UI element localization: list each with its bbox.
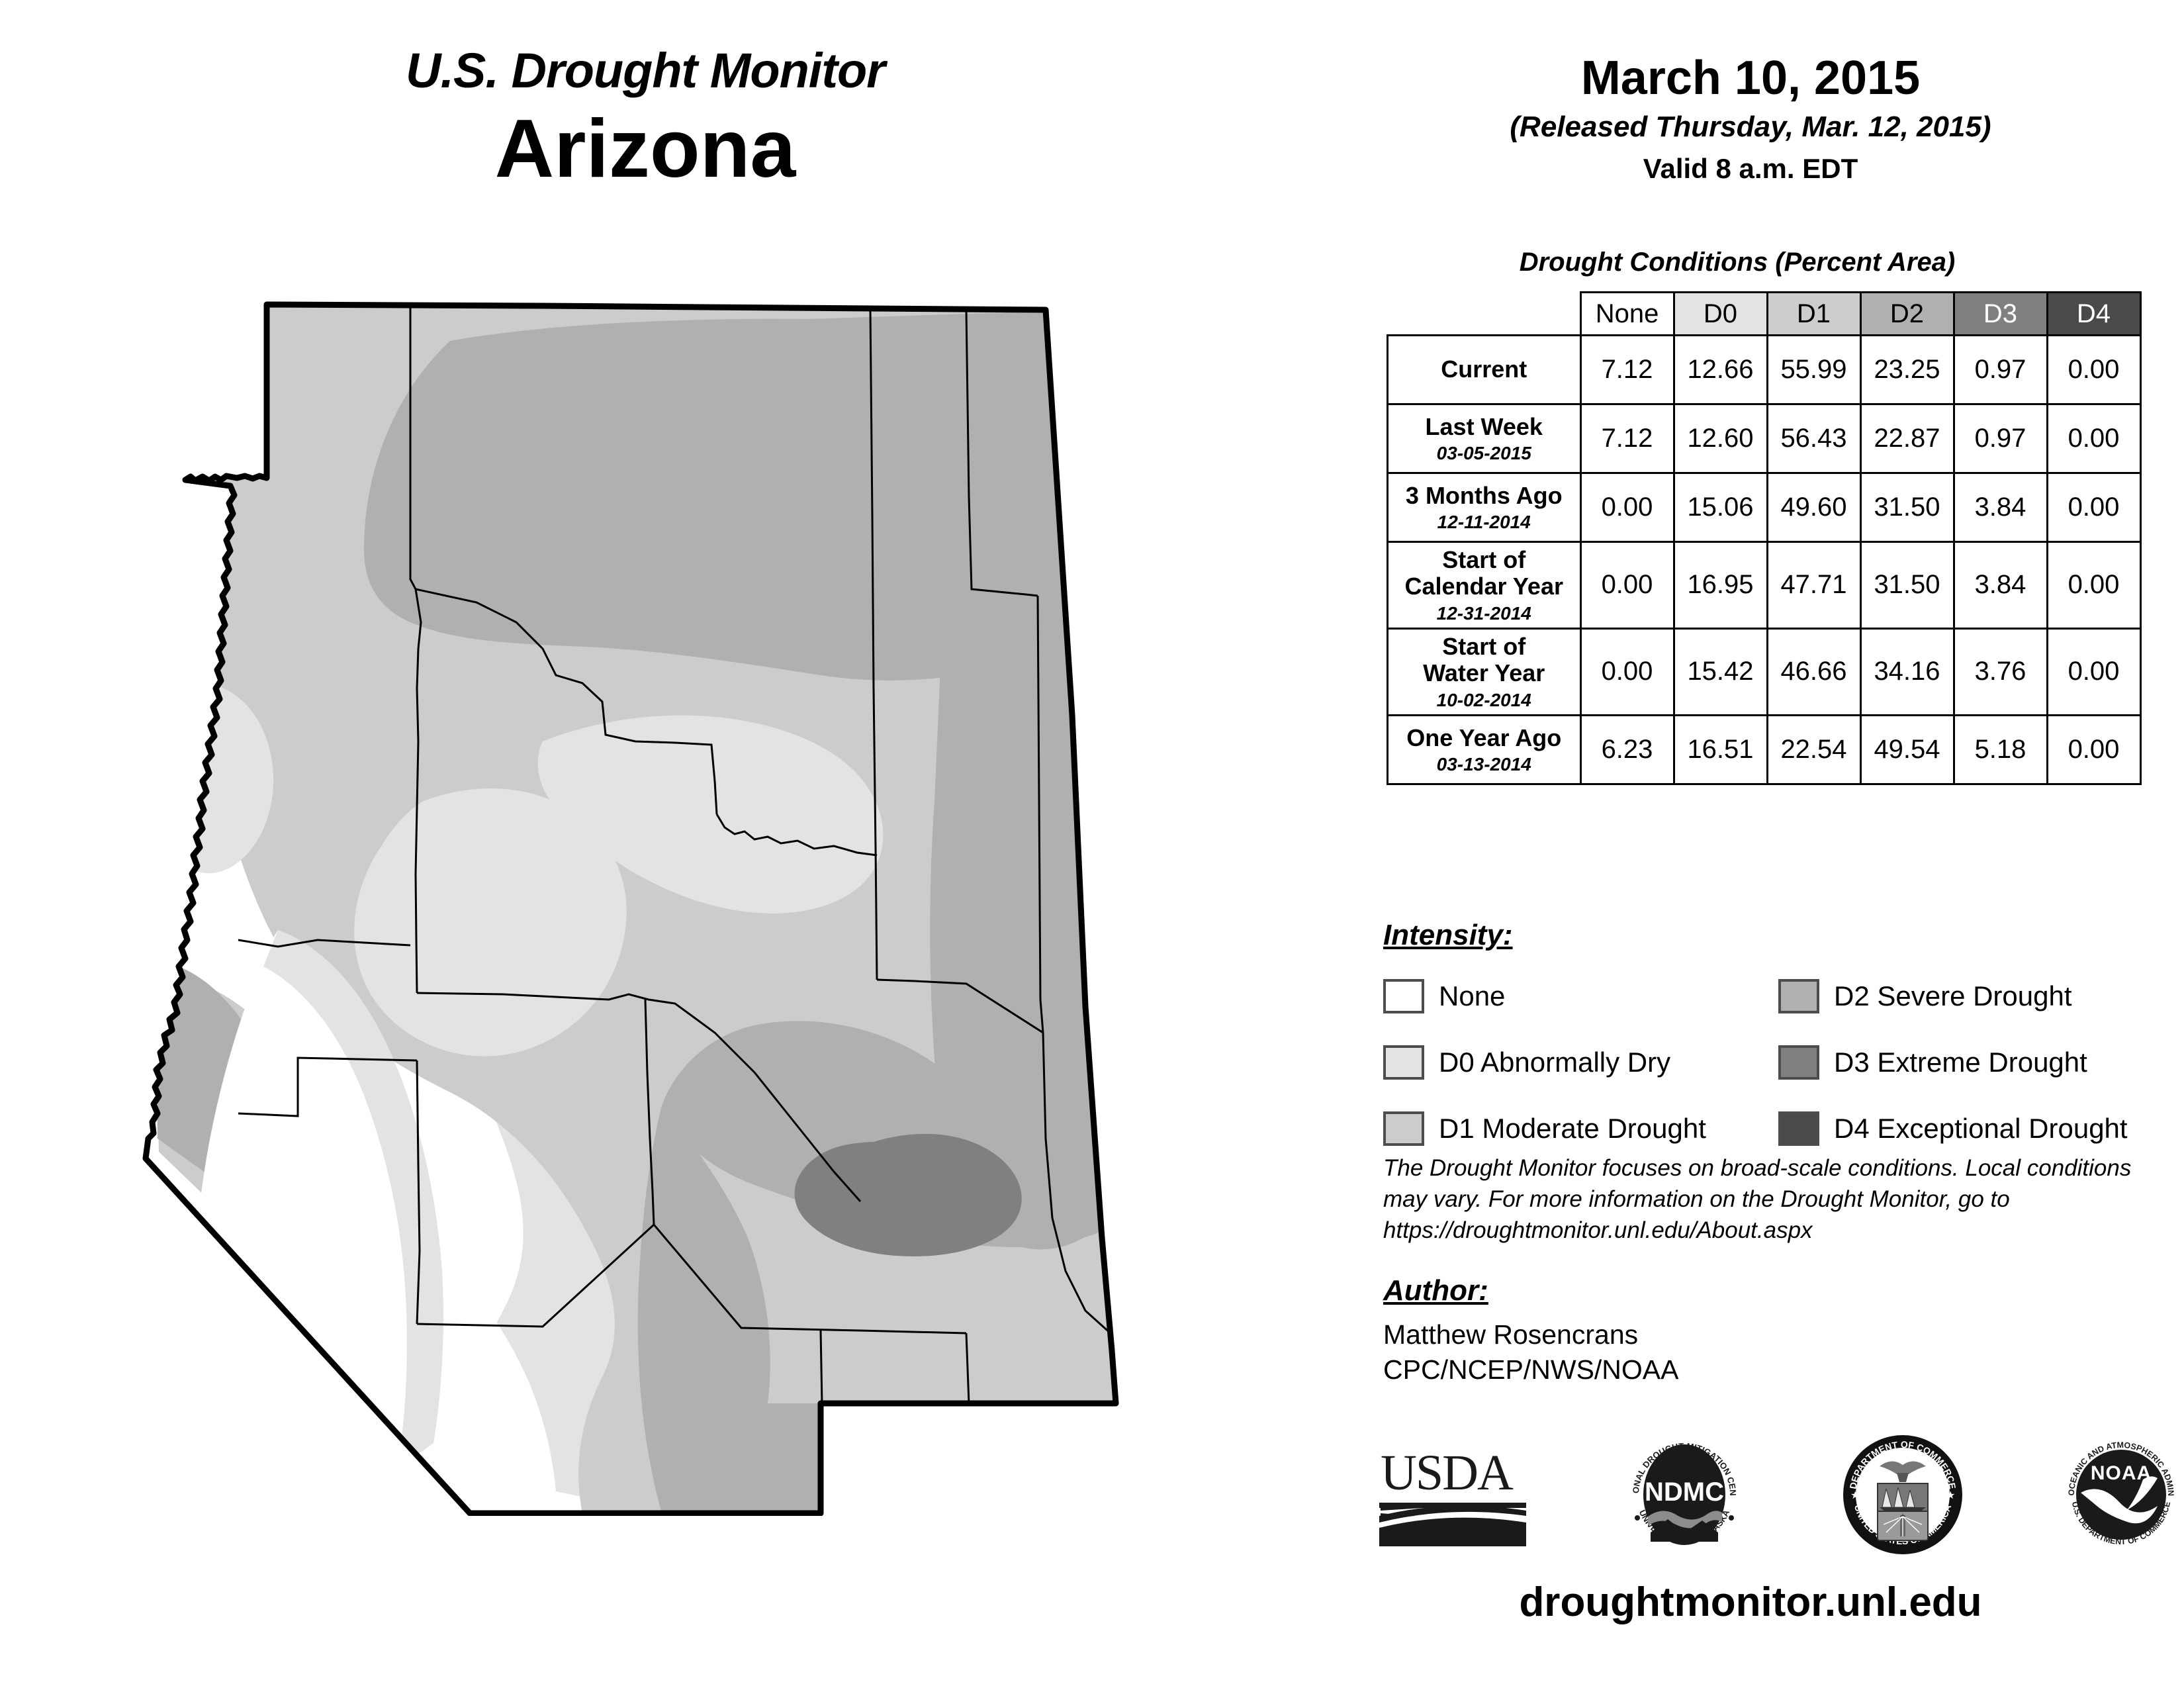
cell-calyear-d1: 47.71: [1767, 542, 1860, 629]
col-header-none: None: [1580, 293, 1674, 336]
cell-wateryear-none: 0.00: [1580, 628, 1674, 715]
date-block: March 10, 2015 (Released Thursday, Mar. …: [1317, 54, 2184, 183]
cell-calyear-d2: 31.50: [1860, 542, 1954, 629]
swatch-d0: [1383, 1045, 1424, 1080]
cell-oneyear-d3: 5.18: [1954, 715, 2047, 784]
svg-text:NDMC: NDMC: [1645, 1477, 1724, 1507]
legend-item-none: None: [1383, 963, 1706, 1029]
cell-current-d1: 55.99: [1767, 336, 1860, 404]
cell-oneyear-d1: 22.54: [1767, 715, 1860, 784]
table-header-row: None D0 D1 D2 D3 D4: [1388, 293, 2141, 336]
valid-time: Valid 8 a.m. EDT: [1317, 155, 2184, 183]
site-url: droughtmonitor.unl.edu: [1317, 1579, 2184, 1626]
cell-current-d2: 23.25: [1860, 336, 1954, 404]
svg-text:NOAA: NOAA: [2091, 1462, 2152, 1484]
cell-3months-d0: 15.06: [1674, 473, 1767, 542]
cell-lastweek-d2: 22.87: [1860, 404, 1954, 473]
legend-label-d4: D4 Exceptional Drought: [1834, 1113, 2128, 1145]
table-row: Start ofWater Year 10-02-2014 0.00 15.42…: [1388, 628, 2141, 715]
cell-current-none: 7.12: [1580, 336, 1674, 404]
row-label-text: Start ofCalendar Year: [1405, 546, 1563, 600]
row-label-date: 03-05-2015: [1391, 443, 1577, 463]
cell-wateryear-d2: 34.16: [1860, 628, 1954, 715]
cell-lastweek-d1: 56.43: [1767, 404, 1860, 473]
cell-3months-none: 0.00: [1580, 473, 1674, 542]
cell-oneyear-d4: 0.00: [2047, 715, 2140, 784]
table-row: Current 7.12 12.66 55.99 23.25 0.97 0.00: [1388, 336, 2141, 404]
row-label-text: Current: [1441, 355, 1527, 383]
cell-lastweek-d0: 12.60: [1674, 404, 1767, 473]
state-title: Arizona: [0, 107, 1291, 191]
cell-calyear-none: 0.00: [1580, 542, 1674, 629]
svg-text:★: ★: [1850, 1490, 1860, 1501]
cell-lastweek-d3: 0.97: [1954, 404, 2047, 473]
legend-item-d3: D3 Extreme Drought: [1778, 1029, 2128, 1096]
ndmc-logo: NATIONAL DROUGHT MITIGATION CENTER UNIVE…: [1621, 1432, 1747, 1561]
table-caption: Drought Conditions (Percent Area): [1317, 248, 2158, 277]
author-name: Matthew Rosencrans: [1383, 1317, 1679, 1352]
noaa-logo: NATIONAL OCEANIC AND ATMOSPHERIC ADMINIS…: [2058, 1432, 2184, 1561]
col-header-d4: D4: [2047, 293, 2140, 336]
table-row: Start ofCalendar Year 12-31-2014 0.00 16…: [1388, 542, 2141, 629]
cell-calyear-d4: 0.00: [2047, 542, 2140, 629]
cell-current-d3: 0.97: [1954, 336, 2047, 404]
cell-oneyear-d0: 16.51: [1674, 715, 1767, 784]
legend-item-d0: D0 Abnormally Dry: [1383, 1029, 1706, 1096]
cell-3months-d4: 0.00: [2047, 473, 2140, 542]
col-header-d3: D3: [1954, 293, 2047, 336]
author-block: Matthew Rosencrans CPC/NCEP/NWS/NOAA: [1383, 1317, 1679, 1388]
row-label-text: Last Week: [1426, 413, 1543, 440]
table-row: Last Week 03-05-2015 7.12 12.60 56.43 22…: [1388, 404, 2141, 473]
col-header-d1: D1: [1767, 293, 1860, 336]
row-label-text: Start ofWater Year: [1423, 633, 1545, 686]
legend-label-d1: D1 Moderate Drought: [1439, 1113, 1706, 1145]
legend-label-d0: D0 Abnormally Dry: [1439, 1047, 1670, 1078]
swatch-none: [1383, 979, 1424, 1013]
legend-item-d1: D1 Moderate Drought: [1383, 1096, 1706, 1162]
table-corner-cell: [1388, 293, 1581, 336]
row-label-last-week: Last Week 03-05-2015: [1388, 404, 1581, 473]
cell-oneyear-d2: 49.54: [1860, 715, 1954, 784]
title-block: U.S. Drought Monitor Arizona: [0, 46, 1291, 191]
col-header-d0: D0: [1674, 293, 1767, 336]
row-label-current: Current: [1388, 336, 1581, 404]
release-date: (Released Thursday, Mar. 12, 2015): [1317, 113, 2184, 142]
legend-label-d2: D2 Severe Drought: [1834, 980, 2072, 1012]
cell-calyear-d0: 16.95: [1674, 542, 1767, 629]
cell-current-d4: 0.00: [2047, 336, 2140, 404]
table-row: 3 Months Ago 12-11-2014 0.00 15.06 49.60…: [1388, 473, 2141, 542]
cell-current-d0: 12.66: [1674, 336, 1767, 404]
cell-lastweek-none: 7.12: [1580, 404, 1674, 473]
cell-wateryear-d4: 0.00: [2047, 628, 2140, 715]
svg-text:USDA: USDA: [1381, 1445, 1514, 1501]
intensity-heading: Intensity:: [1383, 919, 1513, 952]
legend-label-none: None: [1439, 980, 1505, 1012]
cell-3months-d3: 3.84: [1954, 473, 2047, 542]
legend-label-d3: D3 Extreme Drought: [1834, 1047, 2087, 1078]
row-label-date: 12-11-2014: [1391, 512, 1577, 532]
cell-wateryear-d0: 15.42: [1674, 628, 1767, 715]
drought-conditions-table: None D0 D1 D2 D3 D4 Current 7.12 12.66 5…: [1387, 291, 2142, 785]
row-label-text: One Year Ago: [1406, 724, 1561, 751]
legend-item-d4: D4 Exceptional Drought: [1778, 1096, 2128, 1162]
row-label-date: 12-31-2014: [1391, 603, 1577, 624]
disclaimer-text: The Drought Monitor focuses on broad-sca…: [1383, 1153, 2177, 1246]
swatch-d3: [1778, 1045, 1819, 1080]
drought-map: [79, 278, 1291, 1516]
table-row: One Year Ago 03-13-2014 6.23 16.51 22.54…: [1388, 715, 2141, 784]
doc-seal: DEPARTMENT OF COMMERCE UNITED STATES OF …: [1840, 1432, 1966, 1561]
row-label-one-year-ago: One Year Ago 03-13-2014: [1388, 715, 1581, 784]
row-label-date: 03-13-2014: [1391, 754, 1577, 774]
page-title: U.S. Drought Monitor: [0, 46, 1291, 95]
swatch-d4: [1778, 1111, 1819, 1146]
author-affiliation: CPC/NCEP/NWS/NOAA: [1383, 1352, 1679, 1387]
cell-3months-d2: 31.50: [1860, 473, 1954, 542]
logo-row: USDA NATIONAL DROUGHT MITIGATION CENTER: [1377, 1430, 2184, 1562]
author-heading: Author:: [1383, 1274, 1488, 1307]
swatch-d1: [1383, 1111, 1424, 1146]
cell-wateryear-d1: 46.66: [1767, 628, 1860, 715]
row-label-3-months-ago: 3 Months Ago 12-11-2014: [1388, 473, 1581, 542]
swatch-d2: [1778, 979, 1819, 1013]
row-label-text: 3 Months Ago: [1406, 482, 1563, 509]
legend-item-d2: D2 Severe Drought: [1778, 963, 2128, 1029]
usda-logo: USDA: [1377, 1442, 1529, 1551]
row-label-date: 10-02-2014: [1391, 690, 1577, 710]
row-label-start-calendar-year: Start ofCalendar Year 12-31-2014: [1388, 542, 1581, 629]
cell-3months-d1: 49.60: [1767, 473, 1860, 542]
col-header-d2: D2: [1860, 293, 1954, 336]
cell-oneyear-none: 6.23: [1580, 715, 1674, 784]
issue-date: March 10, 2015: [1317, 54, 2184, 102]
cell-calyear-d3: 3.84: [1954, 542, 2047, 629]
row-label-start-water-year: Start ofWater Year 10-02-2014: [1388, 628, 1581, 715]
cell-lastweek-d4: 0.00: [2047, 404, 2140, 473]
svg-text:★: ★: [1946, 1490, 1955, 1501]
cell-wateryear-d3: 3.76: [1954, 628, 2047, 715]
